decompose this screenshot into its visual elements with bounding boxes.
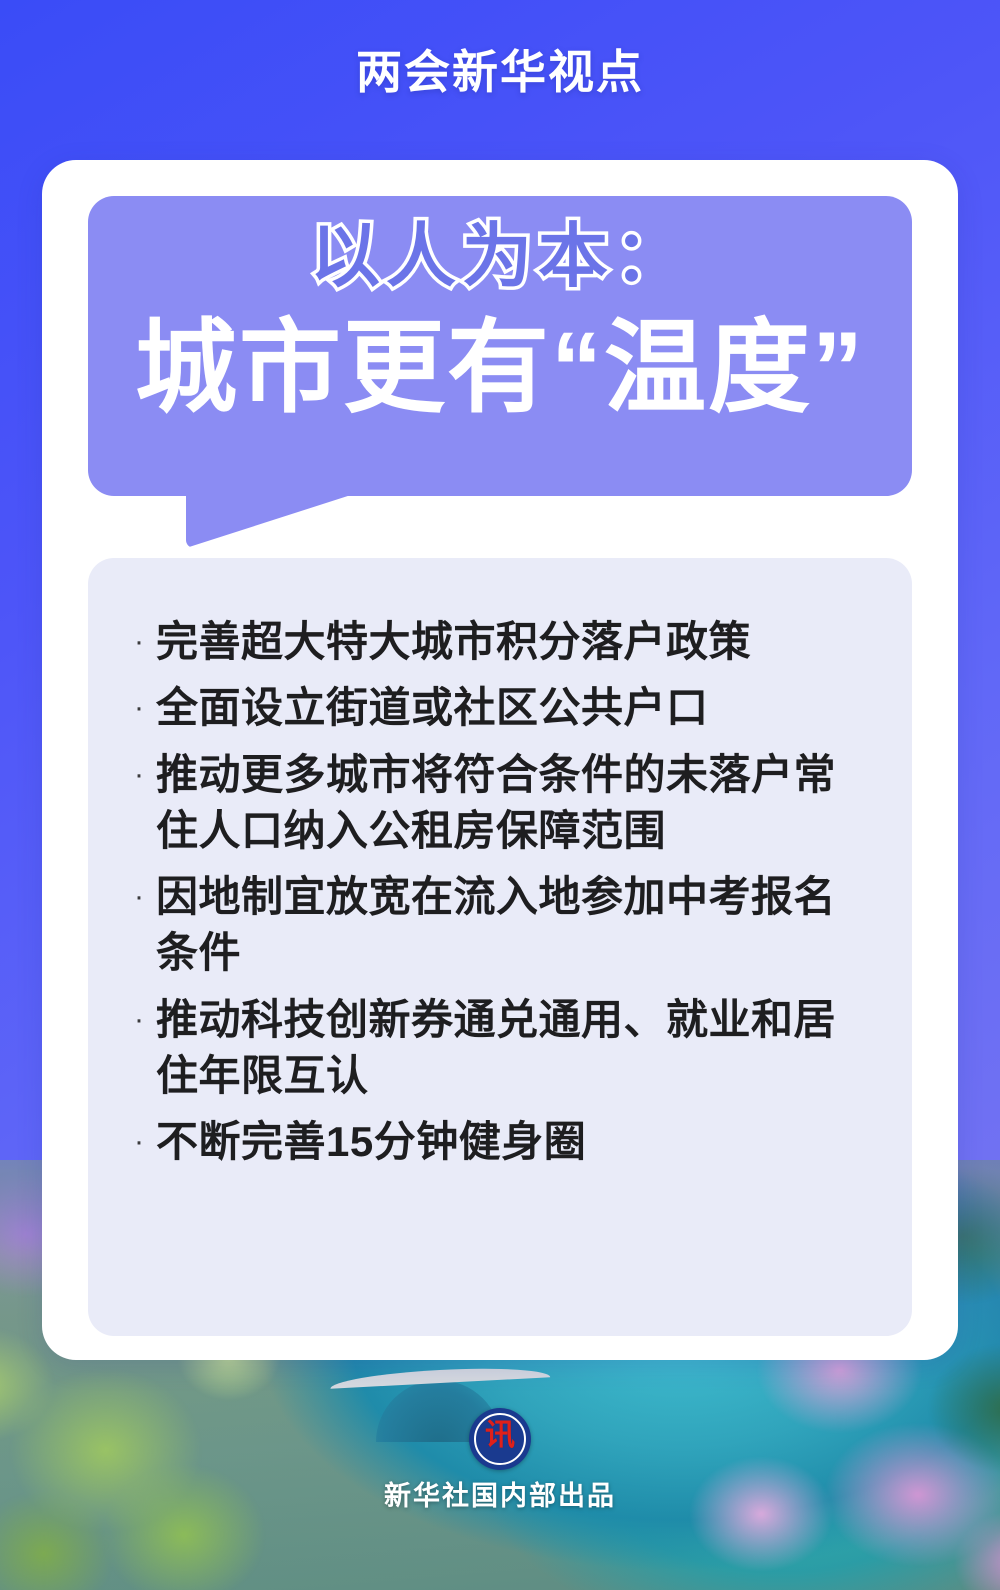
footer-credit: 新华社国内部出品	[0, 1474, 1000, 1513]
bullet-item: ·因地制宜放宽在流入地参加中考报名条件	[122, 869, 878, 982]
bullet-list: ·完善超大特大城市积分落户政策·全面设立街道或社区公共户口·推动更多城市将符合条…	[122, 614, 878, 1170]
headline-line-2: 城市更有“温度”	[88, 314, 912, 422]
bullet-text: 推动更多城市将符合条件的未落户常住人口纳入公租房保障范围	[156, 747, 878, 860]
bullet-text: 因地制宜放宽在流入地参加中考报名条件	[156, 869, 878, 982]
bullet-marker-icon: ·	[122, 614, 156, 670]
bullet-marker-icon: ·	[122, 1114, 156, 1170]
xinhua-logo-icon: 讯	[469, 1408, 531, 1470]
page-title: 两会新华视点	[0, 36, 1000, 102]
bullet-list-panel: ·完善超大特大城市积分落户政策·全面设立街道或社区公共户口·推动更多城市将符合条…	[88, 558, 912, 1336]
bullet-marker-icon: ·	[122, 680, 156, 736]
bullet-text: 不断完善15分钟健身圈	[156, 1114, 878, 1170]
bullet-item: ·推动科技创新券通兑通用、就业和居住年限互认	[122, 992, 878, 1105]
bullet-item: ·完善超大特大城市积分落户政策	[122, 614, 878, 670]
bullet-item: ·不断完善15分钟健身圈	[122, 1114, 878, 1170]
footer: 讯 新华社国内部出品	[0, 1408, 1000, 1513]
headline-line-1: 以人为本：	[88, 220, 912, 293]
xinhua-logo-glyph: 讯	[469, 1408, 531, 1470]
bullet-text: 完善超大特大城市积分落户政策	[156, 614, 878, 670]
bullet-text: 全面设立街道或社区公共户口	[156, 680, 878, 736]
headline-bubble: 以人为本： 城市更有“温度”	[88, 196, 912, 496]
bullet-marker-icon: ·	[122, 747, 156, 803]
bullet-marker-icon: ·	[122, 869, 156, 925]
bullet-marker-icon: ·	[122, 992, 156, 1048]
bullet-item: ·推动更多城市将符合条件的未落户常住人口纳入公租房保障范围	[122, 747, 878, 860]
bullet-text: 推动科技创新券通兑通用、就业和居住年限互认	[156, 992, 878, 1105]
bullet-item: ·全面设立街道或社区公共户口	[122, 680, 878, 736]
poster-root: 两会新华视点 以人为本： 城市更有“温度” ·完善超大特大城市积分落户政策·全面…	[0, 0, 1000, 1590]
